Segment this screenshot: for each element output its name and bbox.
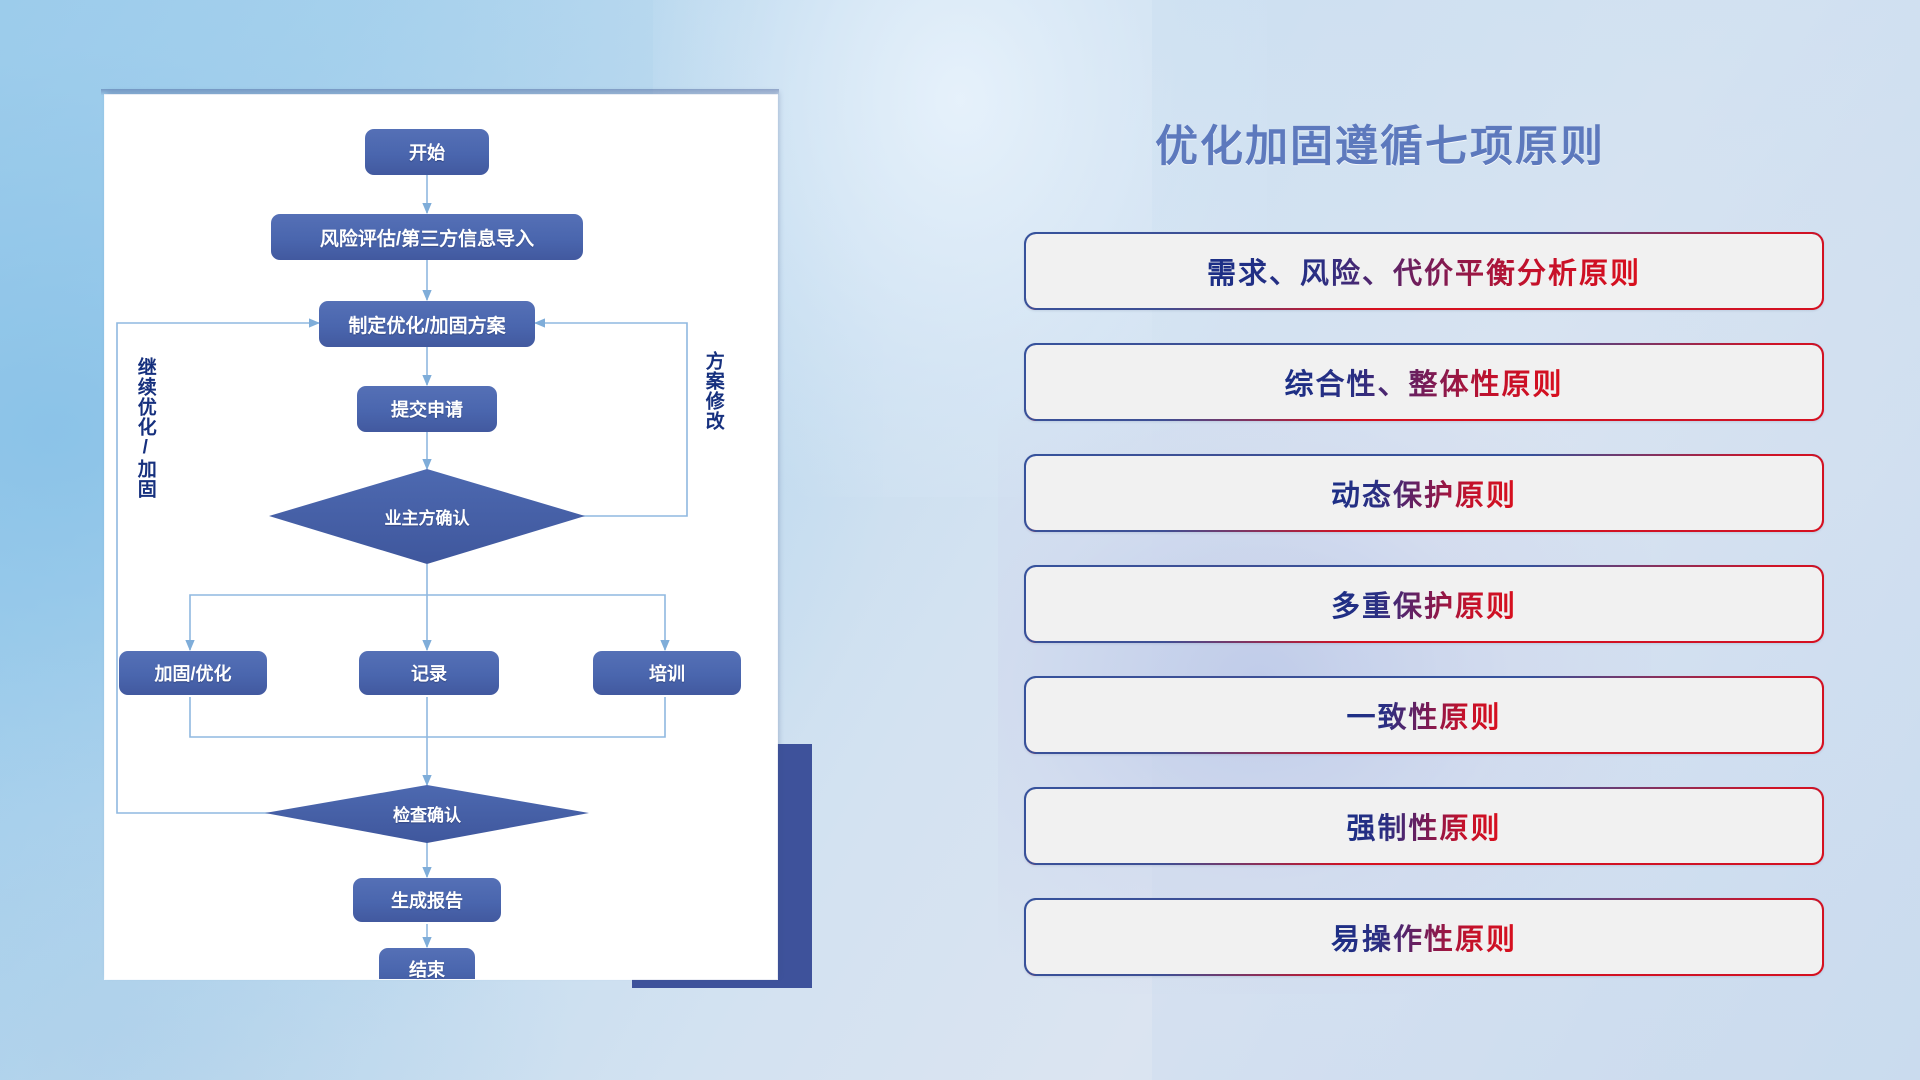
node-reinforce — [119, 651, 267, 695]
principle-list: 需求、风险、代价平衡分析原则 综合性、整体性原则 动态保护原则 多重保护原则 一… — [1024, 232, 1824, 1009]
edge-label-continue-optimize: 继续优化/加固 — [135, 357, 155, 499]
flowchart-card: 开始 风险评估/第三方信息导入 制定优化/加固方案 提交申请 业主方确认 加固/… — [105, 95, 777, 979]
principle-label: 强制性原则 — [1346, 805, 1501, 847]
principle-item[interactable]: 综合性、整体性原则 — [1024, 343, 1824, 421]
principle-label: 易操作性原则 — [1331, 916, 1517, 958]
panel-title: 优化加固遵循七项原则 — [1010, 112, 1750, 174]
principle-label: 动态保护原则 — [1331, 472, 1517, 514]
node-owner-confirm — [269, 469, 585, 564]
node-record — [359, 651, 499, 695]
principle-item[interactable]: 需求、风险、代价平衡分析原则 — [1024, 232, 1824, 310]
principle-item[interactable]: 易操作性原则 — [1024, 898, 1824, 976]
flowchart-canvas — [105, 95, 777, 979]
node-check-confirm — [265, 785, 589, 843]
node-end — [379, 948, 475, 979]
principle-item[interactable]: 动态保护原则 — [1024, 454, 1824, 532]
node-train — [593, 651, 741, 695]
principle-label: 需求、风险、代价平衡分析原则 — [1207, 250, 1641, 292]
node-report — [353, 878, 501, 922]
node-submit — [357, 386, 497, 432]
flow-nodes — [119, 129, 741, 979]
principle-label: 一致性原则 — [1346, 694, 1501, 736]
edge-label-plan-revision: 方案修改 — [703, 351, 723, 431]
node-risk-assessment — [271, 214, 583, 260]
principle-item[interactable]: 强制性原则 — [1024, 787, 1824, 865]
principles-panel: 优化加固遵循七项原则 需求、风险、代价平衡分析原则 综合性、整体性原则 动态保护… — [1010, 0, 1920, 1080]
principle-item[interactable]: 多重保护原则 — [1024, 565, 1824, 643]
node-start — [365, 129, 489, 175]
principle-label: 多重保护原则 — [1331, 583, 1517, 625]
principle-label: 综合性、整体性原则 — [1284, 361, 1563, 403]
node-plan — [319, 301, 535, 347]
principle-item[interactable]: 一致性原则 — [1024, 676, 1824, 754]
